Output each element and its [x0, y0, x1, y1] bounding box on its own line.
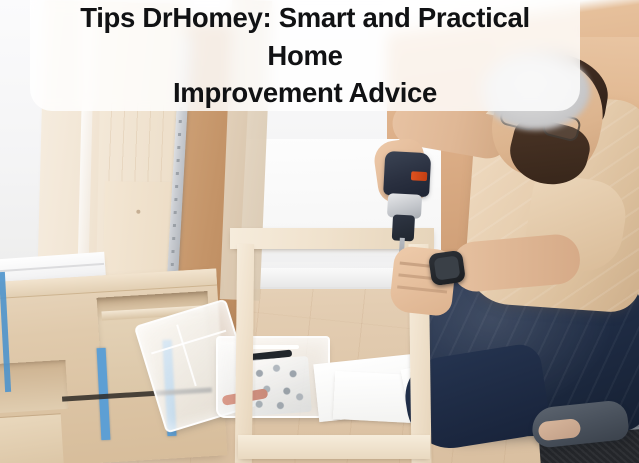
sideboard-door: [0, 413, 64, 463]
frame-bottom-rail: [238, 435, 430, 459]
page-title: Tips DrHomey: Smart and Practical Home I…: [56, 0, 554, 112]
smartwatch: [428, 250, 466, 286]
frame-left-leg: [235, 244, 254, 463]
article-hero-image: Tips DrHomey: Smart and Practical Home I…: [0, 0, 639, 463]
drill-brand-accent: [411, 171, 427, 181]
title-overlay-panel: Tips DrHomey: Smart and Practical Home I…: [30, 0, 580, 111]
